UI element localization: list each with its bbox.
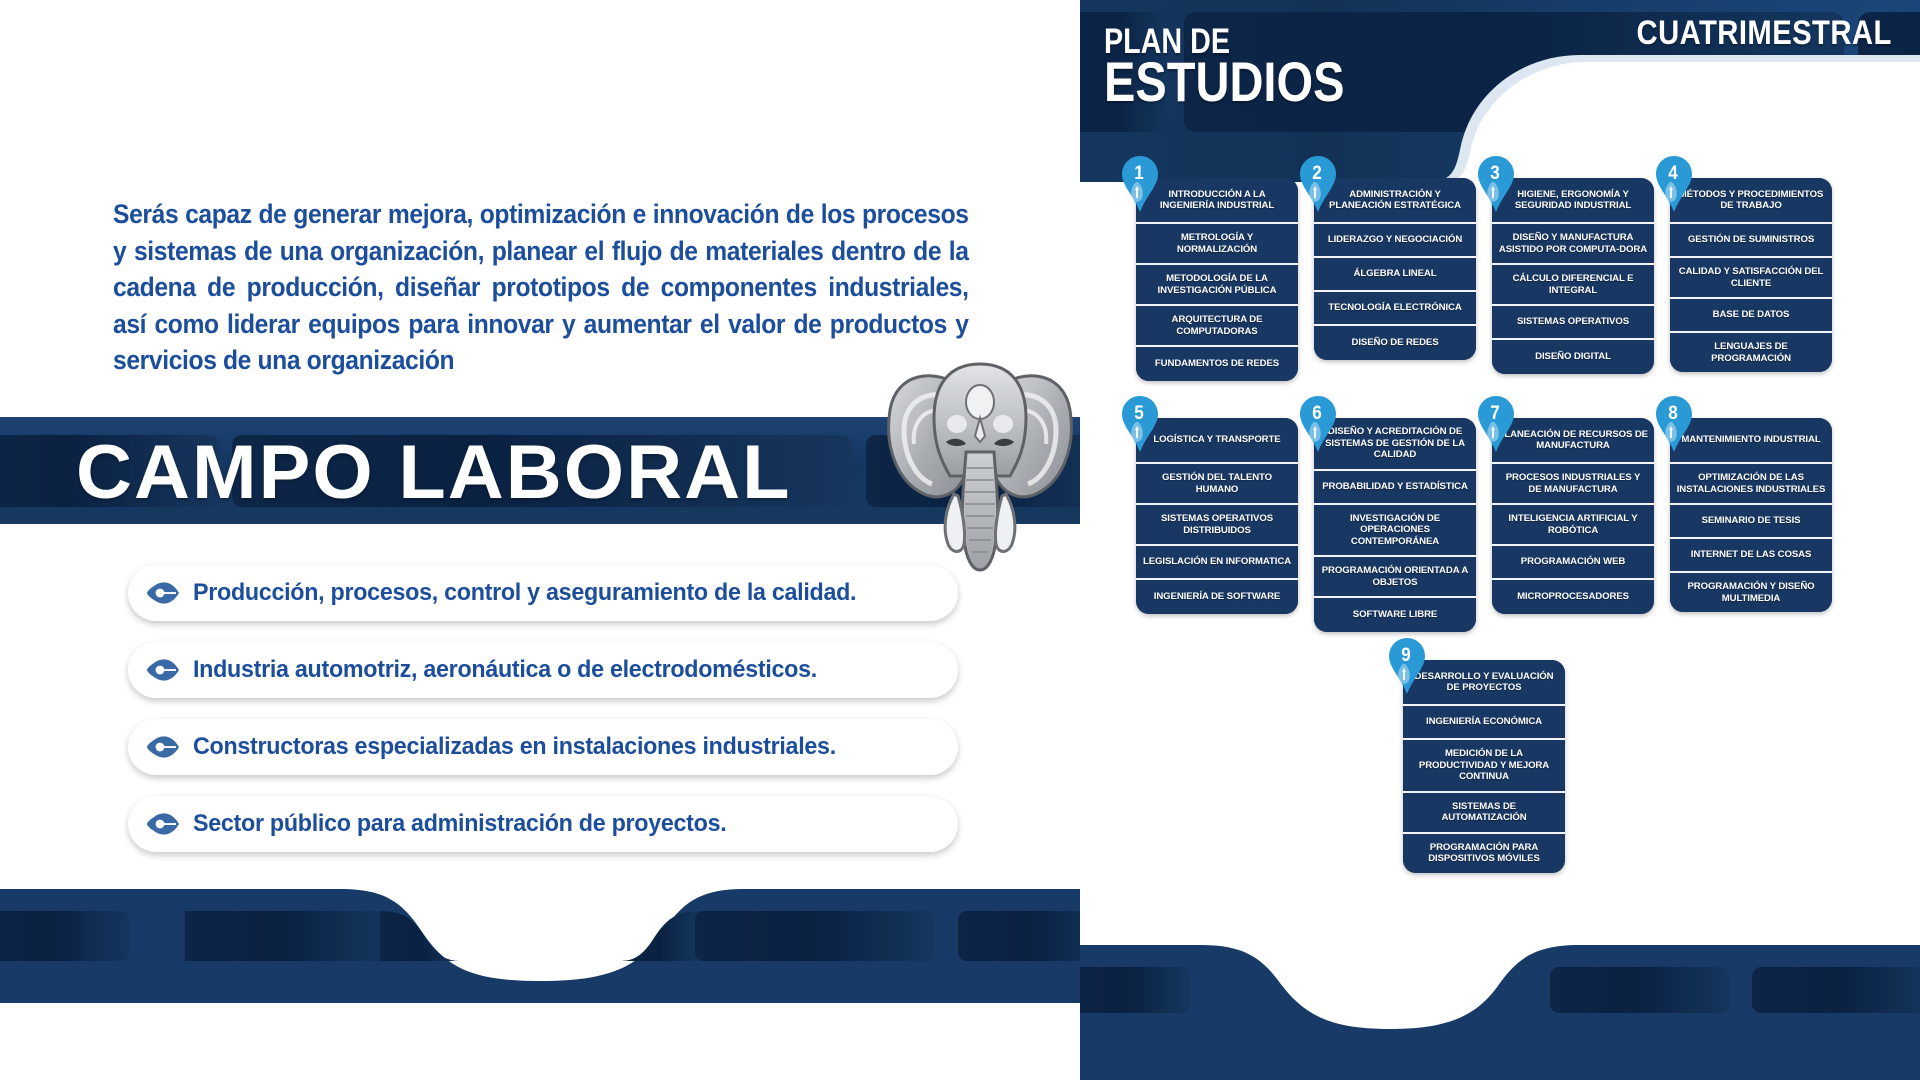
course-item[interactable]: OPTIMIZACIÓN DE LAS INSTALACIONES INDUST… (1670, 464, 1832, 505)
course-item[interactable]: SEMINARIO DE TESIS (1670, 505, 1832, 539)
course-item[interactable]: PROCESOS INDUSTRIALES Y DE MANUFACTURA (1492, 464, 1654, 505)
quarter-marker-pin: 1 (1122, 156, 1162, 211)
course-item[interactable]: ÁLGEBRA LINEAL (1314, 258, 1476, 292)
quarter-marker-pin: 6 (1300, 396, 1340, 451)
list-item[interactable]: Industria automotriz, aeronáutica o de e… (128, 642, 958, 698)
quarter-number: 1 (1124, 156, 1155, 192)
course-item[interactable]: PROBABILIDAD Y ESTADÍSTICA (1314, 471, 1476, 505)
course-item[interactable]: PROGRAMACIÓN ORIENTADA A OBJETOS (1314, 557, 1476, 598)
course-item[interactable]: DISEÑO Y MANUFACTURA ASISTIDO POR COMPUT… (1492, 224, 1654, 265)
lens-arrow-icon (146, 580, 180, 606)
right-panel: PLAN DE ESTUDIOS CUATRIMESTRAL INTRODUCC… (1080, 0, 1920, 1080)
curriculum-column-4: MÉTODOS Y PROCEDIMIENTOS DE TRABAJOGESTI… (1670, 178, 1832, 372)
course-item[interactable]: GESTIÓN DEL TALENTO HUMANO (1136, 464, 1298, 505)
course-item[interactable]: SOFTWARE LIBRE (1314, 598, 1476, 632)
quarter-number: 2 (1302, 156, 1333, 192)
curriculum-column-3: HIGIENE, ERGONOMÍA Y SEGURIDAD INDUSTRIA… (1492, 178, 1654, 374)
course-item[interactable]: CALIDAD Y SATISFACCIÓN DEL CLIENTE (1670, 258, 1832, 299)
course-item[interactable]: ARQUITECTURA DE COMPUTADORAS (1136, 306, 1298, 347)
curriculum-column-7: PLANEACIÓN DE RECURSOS DE MANUFACTURAPRO… (1492, 418, 1654, 614)
lens-arrow-icon (146, 811, 180, 837)
quarter-marker-pin: 2 (1300, 156, 1340, 211)
bottom-decorative-strip (0, 889, 1080, 1003)
course-item[interactable]: INTERNET DE LAS COSAS (1670, 539, 1832, 573)
course-item[interactable]: METROLOGÍA Y NORMALIZACIÓN (1136, 224, 1298, 265)
curriculum-column-5: LOGÍSTICA Y TRANSPORTEGESTIÓN DEL TALENT… (1136, 418, 1298, 614)
course-item[interactable]: LEGISLACIÓN EN INFORMATICA (1136, 546, 1298, 580)
course-item[interactable]: TECNOLOGÍA ELECTRÓNICA (1314, 292, 1476, 326)
course-item[interactable]: DISEÑO DIGITAL (1492, 340, 1654, 374)
intro-paragraph: Serás capaz de generar mejora, optimizac… (113, 196, 969, 379)
infographic-page: Serás capaz de generar mejora, optimizac… (0, 0, 1920, 1080)
list-item-label: Industria automotriz, aeronáutica o de e… (193, 656, 817, 684)
list-item[interactable]: Constructoras especializadas en instalac… (128, 719, 958, 775)
curriculum-grid: INTRODUCCIÓN A LA INGENIERÍA INDUSTRIALM… (1080, 150, 1920, 890)
course-item[interactable]: INGENIERÍA DE SOFTWARE (1136, 580, 1298, 614)
course-item[interactable]: METODOLOGÍA DE LA INVESTIGACIÓN PÚBLICA (1136, 265, 1298, 306)
list-item-label: Producción, procesos, control y aseguram… (193, 579, 856, 607)
quarter-marker-pin: 7 (1478, 396, 1518, 451)
list-item[interactable]: Sector público para administración de pr… (128, 796, 958, 852)
course-item[interactable]: BASE DE DATOS (1670, 299, 1832, 333)
quarter-number: 8 (1658, 396, 1689, 432)
course-item[interactable]: CÁLCULO DIFERENCIAL E INTEGRAL (1492, 265, 1654, 306)
right-bottom-decoration (1080, 815, 1920, 1080)
quarter-marker-pin: 3 (1478, 156, 1518, 211)
quarter-marker-pin: 8 (1656, 396, 1696, 451)
course-item[interactable]: INGENIERÍA ECONÓMICA (1403, 706, 1565, 740)
quarter-number: 4 (1658, 156, 1689, 192)
course-item[interactable]: MICROPROCESADORES (1492, 580, 1654, 614)
quarter-number: 5 (1124, 396, 1155, 432)
list-item-label: Constructoras especializadas en instalac… (193, 733, 836, 761)
quarter-number: 7 (1480, 396, 1511, 432)
course-item[interactable]: PROGRAMACIÓN Y DISEÑO MULTIMEDIA (1670, 573, 1832, 612)
curriculum-column-1: INTRODUCCIÓN A LA INGENIERÍA INDUSTRIALM… (1136, 178, 1298, 381)
plan-title-line2: ESTUDIOS (1104, 49, 1344, 114)
list-item[interactable]: Producción, procesos, control y aseguram… (128, 565, 958, 621)
course-item[interactable]: LIDERAZGO Y NEGOCIACIÓN (1314, 224, 1476, 258)
left-panel: Serás capaz de generar mejora, optimizac… (0, 0, 1080, 1080)
course-item[interactable]: FUNDAMENTOS DE REDES (1136, 347, 1298, 381)
campo-laboral-title: CAMPO LABORAL (76, 423, 792, 523)
curriculum-column-2: ADMINISTRACIÓN Y PLANEACIÓN ESTRATÉGICAL… (1314, 178, 1476, 360)
course-item[interactable]: INVESTIGACIÓN DE OPERACIONES CONTEMPORÁN… (1314, 505, 1476, 558)
curriculum-column-6: DISEÑO Y ACREDITACIÓN DE SISTEMAS DE GES… (1314, 418, 1476, 632)
course-item[interactable]: INTELIGENCIA ARTIFICIAL Y ROBÓTICA (1492, 505, 1654, 546)
campo-laboral-list: Producción, procesos, control y aseguram… (128, 565, 958, 873)
course-item[interactable]: GESTIÓN DE SUMINISTROS (1670, 224, 1832, 258)
quarter-marker-pin: 5 (1122, 396, 1162, 451)
curriculum-column-8: MANTENIMIENTO INDUSTRIALOPTIMIZACIÓN DE … (1670, 418, 1832, 612)
elephant-head-icon (880, 352, 1080, 587)
course-item[interactable]: DISEÑO DE REDES (1314, 326, 1476, 360)
course-item[interactable]: PROGRAMACIÓN WEB (1492, 546, 1654, 580)
plan-period-label: CUATRIMESTRAL (1637, 14, 1892, 53)
course-item[interactable]: LENGUAJES DE PROGRAMACIÓN (1670, 333, 1832, 372)
quarter-number: 3 (1480, 156, 1511, 192)
list-item-label: Sector público para administración de pr… (193, 810, 726, 838)
quarter-marker-pin: 9 (1389, 638, 1429, 693)
course-item[interactable]: MEDICIÓN DE LA PRODUCTIVIDAD Y MEJORA CO… (1403, 740, 1565, 793)
course-item[interactable]: SISTEMAS OPERATIVOS (1492, 306, 1654, 340)
quarter-marker-pin: 4 (1656, 156, 1696, 211)
lens-arrow-icon (146, 657, 180, 683)
course-item[interactable]: SISTEMAS OPERATIVOS DISTRIBUIDOS (1136, 505, 1298, 546)
quarter-number: 9 (1391, 638, 1422, 674)
quarter-number: 6 (1302, 396, 1333, 432)
lens-arrow-icon (146, 734, 180, 760)
